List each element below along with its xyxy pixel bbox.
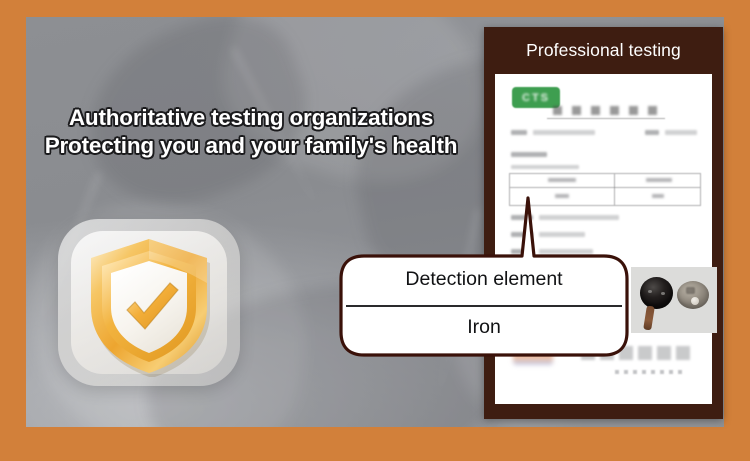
shield-check-icon [82,231,216,377]
doc-note-label [511,249,533,254]
trust-badge [58,219,240,386]
callout-label: Detection element [346,268,622,291]
callout-value: Iron [346,316,622,339]
pan-handle [643,306,655,331]
table-row-divider [510,187,700,188]
callout-content: Detection element Iron [346,255,622,355]
headline: Authoritative testing organizations Prot… [26,104,476,160]
headline-line-2: Protecting you and your family's health [26,132,476,160]
headline-line-1: Authoritative testing organizations [69,105,433,130]
doc-meta-label [645,130,659,135]
doc-meta-label [511,130,527,135]
frying-pan-icon [640,277,673,309]
doc-note-label [511,215,533,220]
table-header-cell [548,178,576,182]
product-photo [631,267,717,333]
doc-note-value [539,249,593,254]
doc-note-value [539,232,585,237]
lid-knob [691,297,699,305]
lab-logo-text: CTS [522,92,550,104]
table-body-cell [555,194,569,198]
doc-section-subtext [511,165,579,169]
table-body-cell [652,194,664,198]
panel-title: Professional testing [484,40,723,61]
document-title-rule [547,118,665,119]
lid-marking [686,287,695,294]
doc-footer-subtext [615,370,687,374]
doc-note-value [539,215,619,220]
professional-testing-panel: Professional testing CTS [484,27,723,419]
doc-note-label [511,232,533,237]
table-column-divider [614,174,615,205]
pan-highlight [648,290,652,293]
table-header-cell [646,178,672,182]
pan-highlight [661,292,665,295]
document-title-placeholder [553,106,658,115]
doc-section-heading [511,152,547,157]
doc-meta-value [665,130,697,135]
results-table [509,173,701,206]
doc-meta-value [533,130,595,135]
lab-logo-icon: CTS [512,87,560,108]
poster-canvas: Authoritative testing organizations Prot… [0,0,750,461]
